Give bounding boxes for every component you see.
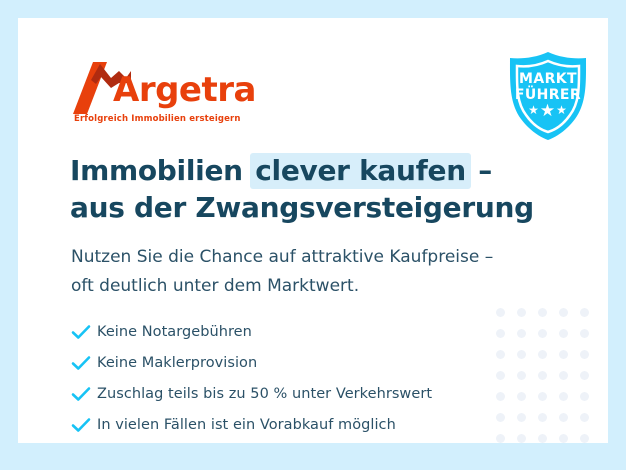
- headline-highlight: clever kaufen: [250, 153, 471, 189]
- headline-line-1: Immobilien clever kaufen –: [70, 152, 570, 189]
- argetra-wordmark: Argetra: [113, 70, 256, 110]
- dot: [559, 371, 568, 380]
- argetra-tagline: Erfolgreich Immobilien ersteigern: [74, 114, 241, 124]
- argetra-logo[interactable]: Argetra Erfolgreich Immobilien ersteiger…: [73, 58, 263, 130]
- dot: [580, 392, 589, 401]
- headline-line-1-pre: Immobilien: [70, 154, 252, 187]
- headline-line-2: aus der Zwangsversteigerung: [70, 189, 570, 226]
- markt-fuehrer-badge: MARKT FÜHRER ★★★: [505, 51, 591, 141]
- check-icon: [71, 324, 97, 340]
- subheadline-line-1: Nutzen Sie die Chance auf attraktive Kau…: [71, 243, 591, 272]
- list-item-label: Zuschlag teils bis zu 50 % unter Verkehr…: [97, 386, 432, 402]
- subheadline-line-2: oft deutlich unter dem Marktwert.: [71, 272, 591, 301]
- list-item-label: In vielen Fällen ist ein Vorabkauf mögli…: [97, 417, 396, 433]
- check-icon: [71, 386, 97, 402]
- dot: [559, 329, 568, 338]
- dot: [559, 392, 568, 401]
- headline-line-1-post: –: [469, 154, 492, 187]
- dot: [559, 434, 568, 443]
- dot: [559, 308, 568, 317]
- content-card: Argetra Erfolgreich Immobilien ersteiger…: [18, 18, 608, 443]
- dot: [580, 434, 589, 443]
- subheadline: Nutzen Sie die Chance auf attraktive Kau…: [71, 243, 591, 301]
- promo-banner: Argetra Erfolgreich Immobilien ersteiger…: [0, 0, 626, 470]
- list-item-label: Keine Maklerprovision: [97, 355, 257, 371]
- dot: [559, 413, 568, 422]
- list-item: Keine Notargebühren: [71, 316, 541, 347]
- dot: [580, 371, 589, 380]
- dot: [559, 350, 568, 359]
- dot: [580, 350, 589, 359]
- list-item: Zuschlag teils bis zu 50 % unter Verkehr…: [71, 378, 541, 409]
- check-icon: [71, 355, 97, 371]
- list-item: Keine Maklerprovision: [71, 347, 541, 378]
- page-title: Immobilien clever kaufen – aus der Zwang…: [70, 152, 570, 226]
- dot: [580, 329, 589, 338]
- check-icon: [71, 417, 97, 433]
- shield-icon: [505, 51, 591, 141]
- list-item-label: Keine Notargebühren: [97, 324, 252, 340]
- dot: [580, 413, 589, 422]
- list-item: In vielen Fällen ist ein Vorabkauf mögli…: [71, 409, 541, 440]
- benefit-list: Keine Notargebühren Keine Maklerprovisio…: [71, 316, 541, 440]
- dot: [580, 308, 589, 317]
